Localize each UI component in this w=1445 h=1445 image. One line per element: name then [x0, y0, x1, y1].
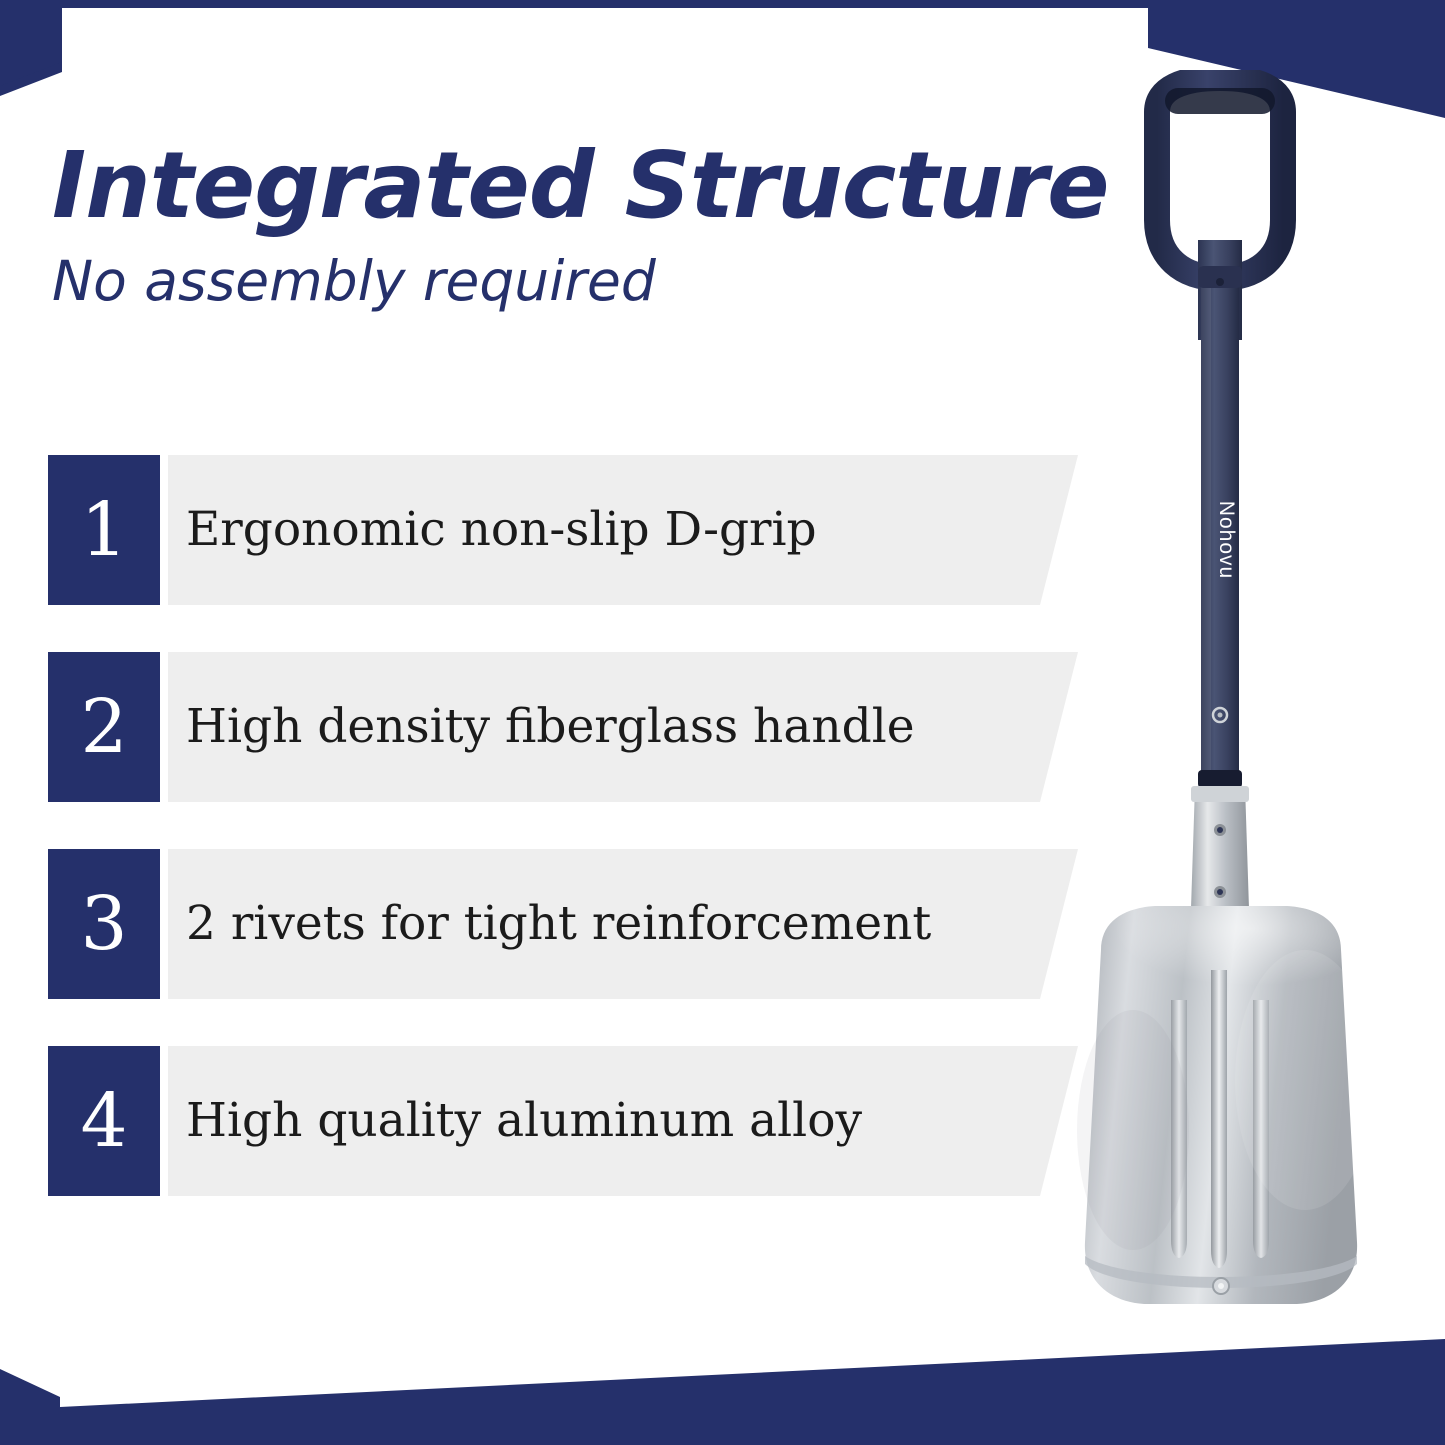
- page-title: Integrated Structure: [52, 140, 1132, 232]
- feature-number: 3: [48, 849, 160, 999]
- feature-number: 2: [48, 652, 160, 802]
- feature-label: High quality aluminum alloy: [186, 1046, 862, 1196]
- feature-list: 1 Ergonomic non-slip D-grip 2 High densi…: [48, 455, 1078, 1196]
- page-subtitle: No assembly required: [52, 254, 1132, 309]
- feature-row: 3 2 rivets for tight reinforcement: [48, 849, 1078, 999]
- product-image-snow-shovel: Nohovu: [1005, 70, 1435, 1370]
- feature-number: 4: [48, 1046, 160, 1196]
- feature-row: 1 Ergonomic non-slip D-grip: [48, 455, 1078, 605]
- feature-row: 4 High quality aluminum alloy: [48, 1046, 1078, 1196]
- headline-block: Integrated Structure No assembly require…: [52, 140, 1132, 309]
- feature-number: 1: [48, 455, 160, 605]
- feature-label: 2 rivets for tight reinforcement: [186, 849, 931, 999]
- feature-label: High density fiberglass handle: [186, 652, 915, 802]
- product-infographic: Integrated Structure No assembly require…: [0, 0, 1445, 1445]
- brand-name-on-shaft: Nohovu: [1215, 501, 1238, 579]
- feature-row: 2 High density fiberglass handle: [48, 652, 1078, 802]
- shovel-blade: [1077, 906, 1375, 1304]
- feature-label: Ergonomic non-slip D-grip: [186, 455, 817, 605]
